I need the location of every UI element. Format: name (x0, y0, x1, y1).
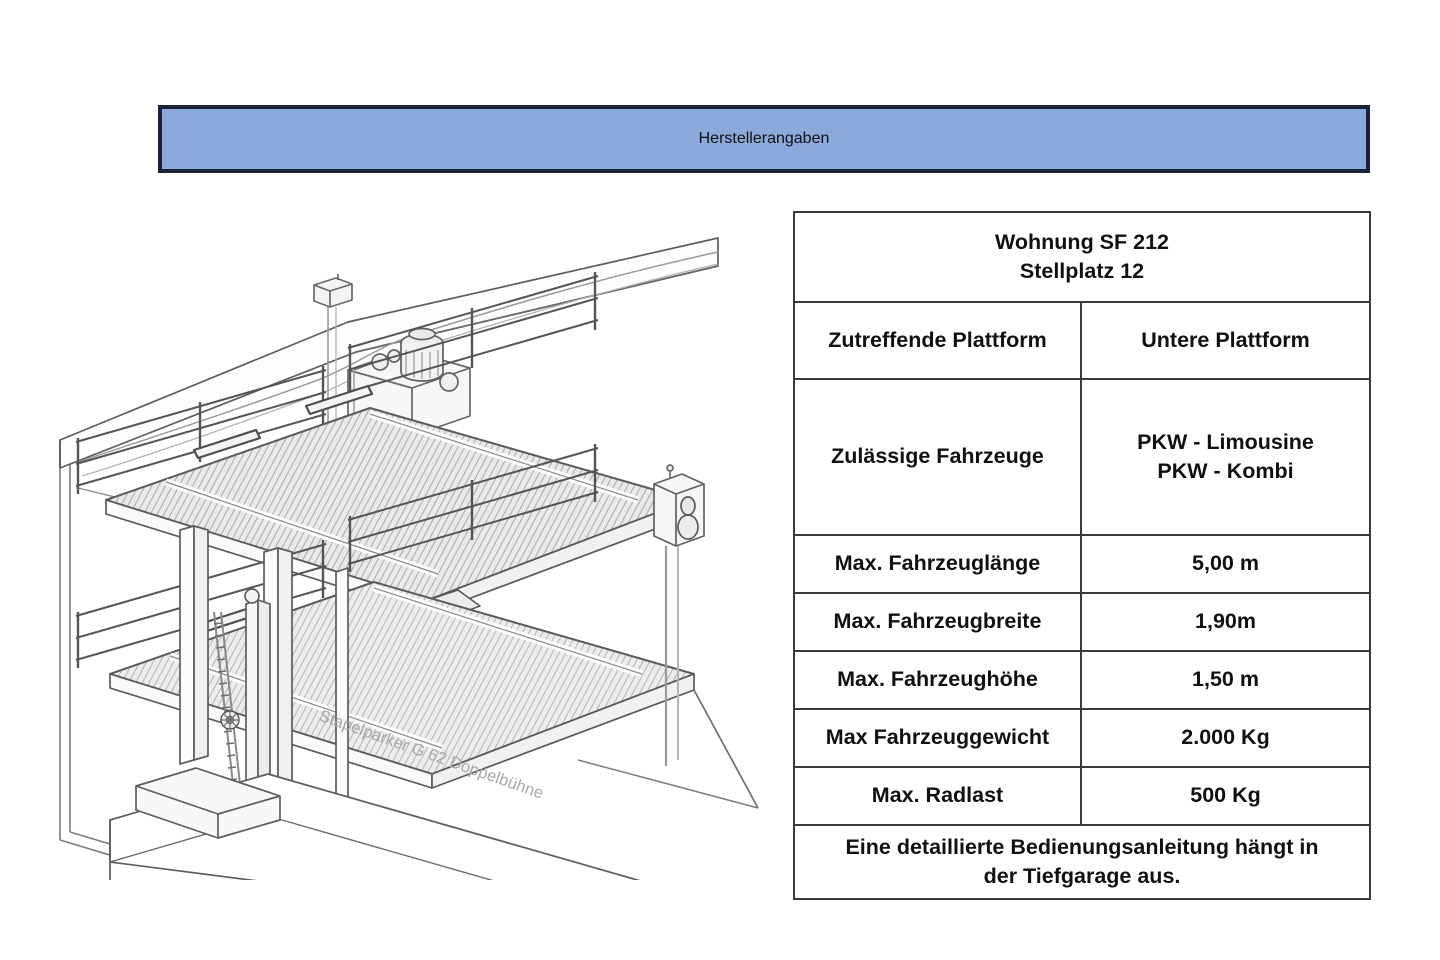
push-button-icon (678, 515, 698, 539)
manufacturer-spec-table: Wohnung SF 212 Stellplatz 12 Zutreffende… (793, 211, 1371, 900)
stacker-illustration: Stapelparker G 62 Doppelbühne (18, 200, 778, 880)
value-max-weight: 2.000 Kg (1081, 709, 1370, 767)
table-row-max-wheel-load: Max. Radlast 500 Kg (794, 767, 1370, 825)
label-platform: Zutreffende Plattform (794, 302, 1081, 379)
label-max-width: Max. Fahrzeugbreite (794, 593, 1081, 651)
value-allowed-vehicles: PKW - Limousine PKW - Kombi (1081, 379, 1370, 535)
value-max-wheel-load: 500 Kg (1081, 767, 1370, 825)
manual-note-line1: Eine detaillierte Bedienungsanleitung hä… (801, 833, 1363, 862)
manual-note-line2: der Tiefgarage aus. (801, 862, 1363, 891)
table-row-max-width: Max. Fahrzeugbreite 1,90m (794, 593, 1370, 651)
table-row-apartment-header: Wohnung SF 212 Stellplatz 12 (794, 212, 1370, 302)
table-row-note: Eine detaillierte Bedienungsanleitung hä… (794, 825, 1370, 899)
label-max-weight: Max Fahrzeuggewicht (794, 709, 1081, 767)
page-header-banner: Herstellerangaben (158, 105, 1370, 173)
apartment-header-cell: Wohnung SF 212 Stellplatz 12 (794, 212, 1370, 302)
pit-floor (110, 768, 686, 880)
table-row-max-height: Max. Fahrzeughöhe 1,50 m (794, 651, 1370, 709)
label-max-wheel-load: Max. Radlast (794, 767, 1081, 825)
parking-space-label: Stellplatz 12 (801, 257, 1363, 286)
table-row-platform: Zutreffende Plattform Untere Plattform (794, 302, 1370, 379)
value-vehicle-wagon: PKW - Kombi (1088, 457, 1363, 486)
key-switch-icon (681, 497, 695, 515)
value-max-length: 5,00 m (1081, 535, 1370, 593)
label-max-height: Max. Fahrzeughöhe (794, 651, 1081, 709)
double-deck-car-stacker-drawing: Stapelparker G 62 Doppelbühne (18, 200, 778, 880)
label-allowed-vehicles: Zulässige Fahrzeuge (794, 379, 1081, 535)
label-max-length: Max. Fahrzeuglänge (794, 535, 1081, 593)
table-row-max-length: Max. Fahrzeuglänge 5,00 m (794, 535, 1370, 593)
manual-note-cell: Eine detaillierte Bedienungsanleitung hä… (794, 825, 1370, 899)
value-platform: Untere Plattform (1081, 302, 1370, 379)
table-row-max-weight: Max Fahrzeuggewicht 2.000 Kg (794, 709, 1370, 767)
value-max-width: 1,90m (1081, 593, 1370, 651)
page-title: Herstellerangaben (699, 130, 830, 148)
value-vehicle-sedan: PKW - Limousine (1088, 428, 1363, 457)
table-row-vehicles: Zulässige Fahrzeuge PKW - Limousine PKW … (794, 379, 1370, 535)
apartment-label: Wohnung SF 212 (801, 228, 1363, 257)
value-max-height: 1,50 m (1081, 651, 1370, 709)
control-post (654, 465, 704, 766)
